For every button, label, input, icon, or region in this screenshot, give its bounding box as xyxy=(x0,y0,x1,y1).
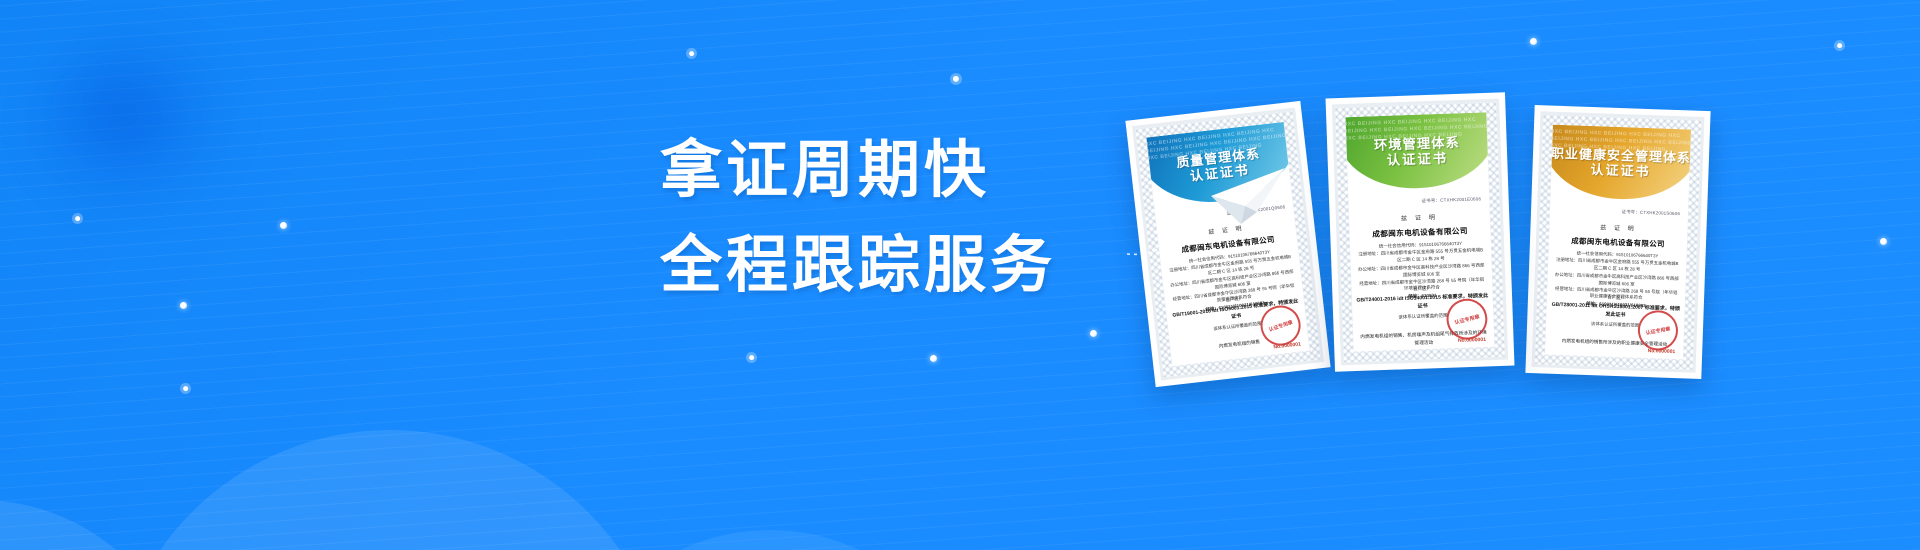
certificate-header: HXC BEIJING HXC BEIJING HXC BEIJING HXC … xyxy=(1545,125,1691,202)
paper-plane-icon xyxy=(1125,150,1295,260)
certificate-border: HXC BEIJING HXC BEIJING HXC BEIJING HXC … xyxy=(1332,99,1508,366)
decorative-dot xyxy=(930,355,937,362)
decorative-dot xyxy=(950,73,962,85)
decorative-dot xyxy=(746,352,757,363)
cert-grid-cell: 第三次监审 xyxy=(1262,365,1283,366)
certificate-attest-label: 兹 证 明 xyxy=(1349,210,1490,224)
certificate-card-environmental-management-system[interactable]: HXC BEIJING HXC BEIJING HXC BEIJING HXC … xyxy=(1326,92,1515,371)
certificate-card-occupational-health-safety-management-system[interactable]: HXC BEIJING HXC BEIJING HXC BEIJING HXC … xyxy=(1525,105,1710,379)
certificate-number: 证书号：CTXHK2001E0606 xyxy=(1421,196,1481,204)
certificate-header: HXC BEIJING HXC BEIJING HXC BEIJING HXC … xyxy=(1346,112,1495,191)
decorative-dot xyxy=(1530,38,1537,45)
certificate-organization: 成都闽东电机设备有限公司 xyxy=(1549,235,1687,251)
decorative-dot xyxy=(1090,330,1097,337)
decorative-dot xyxy=(180,302,187,309)
certificate-watermark: HXC BEIJING HXC BEIJING HXC BEIJING HXC … xyxy=(1548,129,1690,196)
certificate-attest-label: 兹 证 明 xyxy=(1549,221,1687,235)
decorative-dot xyxy=(180,383,191,394)
cert-grid-cell: 有效日期 xyxy=(1282,363,1302,366)
certificate-audit-grid: 第一次监审有效日期第二次监审有效日期第三次监审有效日期 xyxy=(1184,362,1303,367)
certificate-border: HXC BEIJING HXC BEIJING HXC BEIJING HXC … xyxy=(1532,111,1705,373)
hero-headline: 拿证周期快 全程跟踪服务 xyxy=(660,140,1056,297)
headline-line-2: 全程跟踪服务 xyxy=(660,235,1056,297)
certificate-serial: No.0000001 xyxy=(1458,337,1486,344)
decorative-dot xyxy=(280,222,287,229)
decorative-dot xyxy=(686,48,697,59)
certificate-watermark: HXC BEIJING HXC BEIJING HXC BEIJING HXC … xyxy=(1346,116,1491,184)
decorative-circle-large xyxy=(110,430,670,550)
blue-glow-blob xyxy=(30,30,240,220)
decorative-circle-left xyxy=(0,500,190,550)
decorative-dot xyxy=(72,213,83,224)
certificate-body: HXC BEIJING HXC BEIJING HXC BEIJING HXC … xyxy=(1545,125,1691,360)
decorative-circle-center xyxy=(560,530,980,550)
decorative-dot xyxy=(1834,40,1845,51)
certificate-number: 证书号：CTXHK2001S0606 xyxy=(1621,209,1680,217)
hero-banner: 拿证周期快 全程跟踪服务 HXC BEIJING HXC BEIJING HXC… xyxy=(0,0,1920,550)
certificate-serial: No.0000001 xyxy=(1648,348,1676,355)
certificate-organization: 成都闽东电机设备有限公司 xyxy=(1349,224,1490,240)
certificate-body: HXC BEIJING HXC BEIJING HXC BEIJING HXC … xyxy=(1346,112,1495,351)
headline-line-1: 拿证周期快 xyxy=(660,140,1056,202)
